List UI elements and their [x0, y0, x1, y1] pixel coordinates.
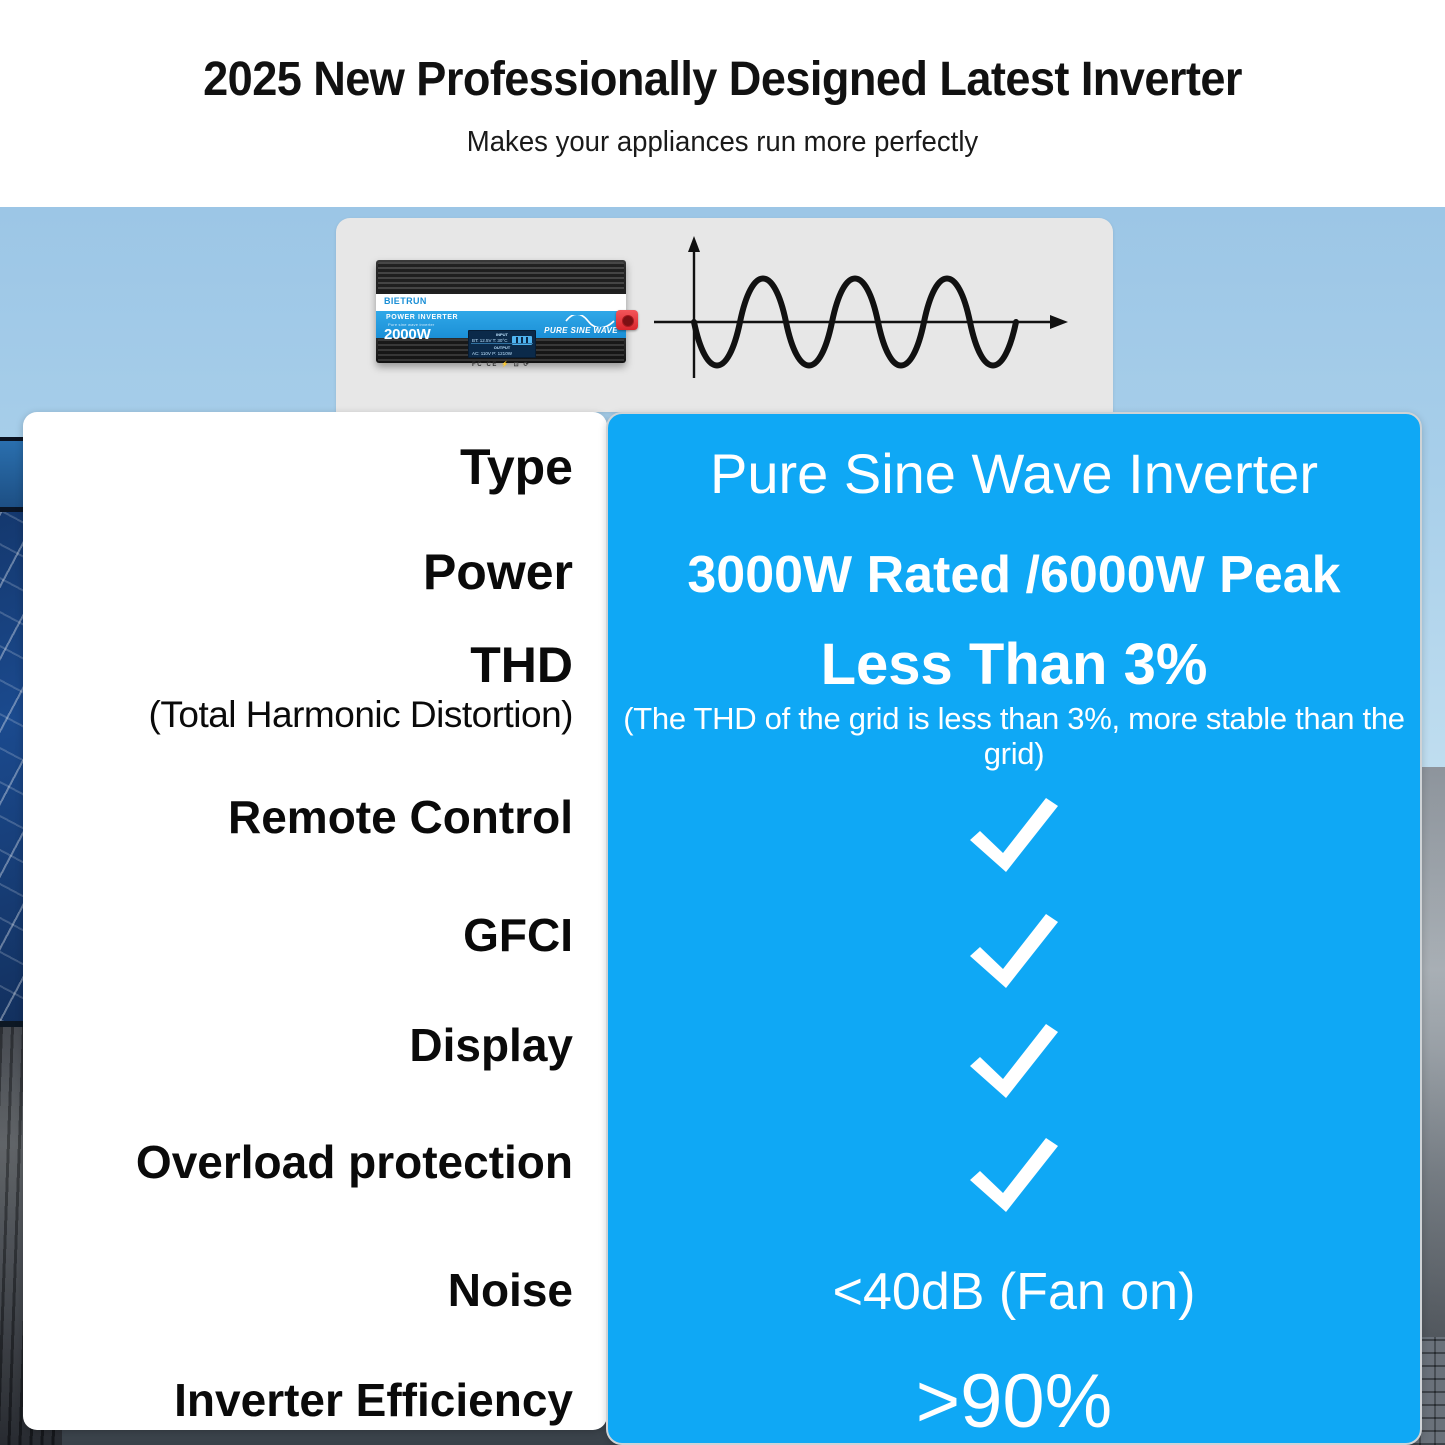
lcd-display: INPUT BT: 12.5V T: 30°C OUTPUT AC: 110V …: [468, 330, 536, 358]
pure-sine-wave-label: PURE SINE WAVE: [544, 326, 618, 335]
spec-label: Power: [43, 547, 573, 597]
spec-label-subtext: (Total Harmonic Distortion): [43, 696, 573, 733]
spec-label-text: GFCI: [463, 909, 573, 961]
product-type-label: POWER INVERTER: [386, 314, 458, 321]
spec-label: GFCI: [43, 912, 573, 958]
spec-value-text: Pure Sine Wave Inverter: [710, 442, 1318, 505]
spec-label: Inverter Efficiency: [43, 1377, 573, 1423]
spec-label-card: TypePowerTHD(Total Harmonic Distortion)R…: [23, 412, 607, 1430]
spec-value: Pure Sine Wave Inverter: [608, 446, 1420, 502]
header: 2025 New Professionally Designed Latest …: [0, 0, 1445, 207]
spec-value-text: >90%: [916, 1359, 1113, 1444]
certification-marks: FC CE ⚡ ⊡ ⟳: [472, 361, 530, 368]
spec-label: Display: [43, 1022, 573, 1068]
spec-value: <40dB (Fan on): [608, 1266, 1420, 1318]
spec-label-text: Display: [409, 1019, 573, 1071]
spec-value-card: Pure Sine Wave Inverter3000W Rated /6000…: [606, 412, 1422, 1445]
spec-label-text: Inverter Efficiency: [174, 1374, 573, 1426]
spec-value: >90%: [608, 1364, 1420, 1440]
product-wattage-label: 2000W: [384, 326, 431, 343]
checkmark-icon: [608, 1022, 1420, 1105]
inverter-product-image: BIETRUN POWER INVERTER Pure sine wave in…: [376, 260, 626, 363]
spec-label: Noise: [43, 1267, 573, 1313]
spec-label-text: Noise: [448, 1264, 573, 1316]
spec-value-text: <40dB (Fan on): [833, 1263, 1196, 1321]
checkmark-glyph: [966, 912, 1062, 990]
spec-label: THD(Total Harmonic Distortion): [43, 640, 573, 733]
checkmark-glyph: [966, 796, 1062, 874]
checkmark-icon: [608, 1136, 1420, 1219]
spec-label: Type: [43, 442, 573, 492]
spec-value: Less Than 3%(The THD of the grid is less…: [608, 636, 1420, 771]
spec-value: 3000W Rated /6000W Peak: [608, 549, 1420, 601]
inverter-faceplate: BIETRUN POWER INVERTER Pure sine wave in…: [376, 294, 626, 338]
page-subtitle: Makes your appliances run more perfectly: [36, 126, 1409, 159]
spec-value-text: 3000W Rated /6000W Peak: [687, 546, 1340, 604]
product-showcase-panel: BIETRUN POWER INVERTER Pure sine wave in…: [336, 218, 1113, 412]
power-button[interactable]: [616, 310, 638, 330]
checkmark-glyph: [966, 1136, 1062, 1214]
lcd-output-value: AC: 110V P: 1210W: [472, 351, 512, 356]
spec-label-text: Remote Control: [228, 791, 573, 843]
brand-logo: BIETRUN: [384, 296, 427, 306]
spec-value-note: (The THD of the grid is less than 3%, mo…: [608, 702, 1420, 771]
spec-label-text: THD: [470, 637, 573, 693]
spec-label: Overload protection: [43, 1139, 573, 1185]
lcd-output-title: OUTPUT: [469, 345, 535, 350]
sine-wave-diagram: [654, 230, 1074, 402]
checkmark-icon: [608, 912, 1420, 995]
spec-label-text: Type: [460, 439, 573, 495]
spec-value-text: Less Than 3%: [821, 632, 1208, 697]
checkmark-glyph: [966, 1022, 1062, 1100]
lcd-divider: [471, 343, 533, 344]
checkmark-icon: [608, 796, 1420, 879]
spec-label-text: Overload protection: [136, 1136, 573, 1188]
sine-wave-logo-icon: [564, 314, 616, 326]
spec-label-text: Power: [423, 544, 573, 600]
page-title: 2025 New Professionally Designed Latest …: [43, 52, 1401, 107]
heatsink-fins-top: [378, 262, 624, 292]
spec-label: Remote Control: [43, 794, 573, 840]
